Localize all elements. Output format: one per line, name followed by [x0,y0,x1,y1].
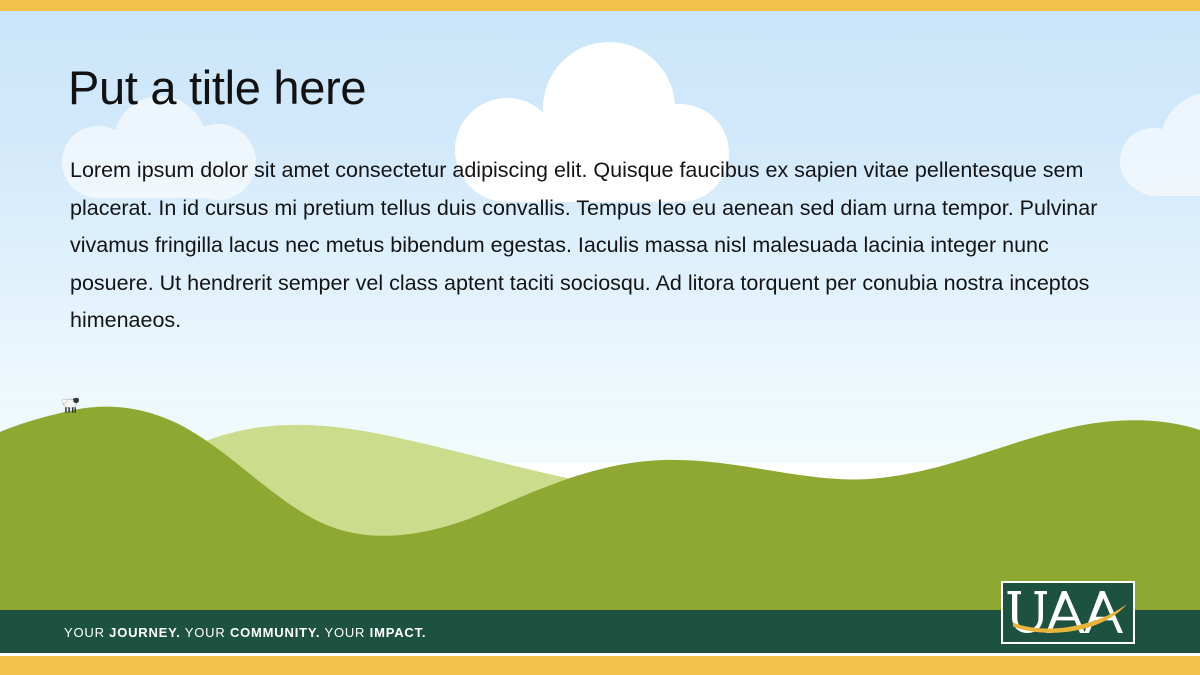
tagline-part-2: YOUR [181,625,230,640]
tagline-part-3: COMMUNITY. [230,625,320,640]
slide-title[interactable]: Put a title here [68,63,366,114]
tagline-part-5: IMPACT. [370,625,427,640]
uaa-logo[interactable] [1001,581,1135,644]
sheep-icon [60,396,82,416]
cloud-icon-main [455,42,745,167]
tagline-part-0: YOUR [64,625,109,640]
bottom-accent-bar [0,656,1200,675]
slide-canvas: Put a title here Lorem ipsum dolor sit a… [0,0,1200,675]
tagline-part-4: YOUR [320,625,369,640]
footer-tagline: YOUR JOURNEY. YOUR COMMUNITY. YOUR IMPAC… [64,625,426,640]
cloud-icon-right [1120,92,1200,172]
slide-body-text[interactable]: Lorem ipsum dolor sit amet consectetur a… [70,152,1132,340]
tagline-part-1: JOURNEY. [109,625,180,640]
top-accent-bar [0,0,1200,11]
